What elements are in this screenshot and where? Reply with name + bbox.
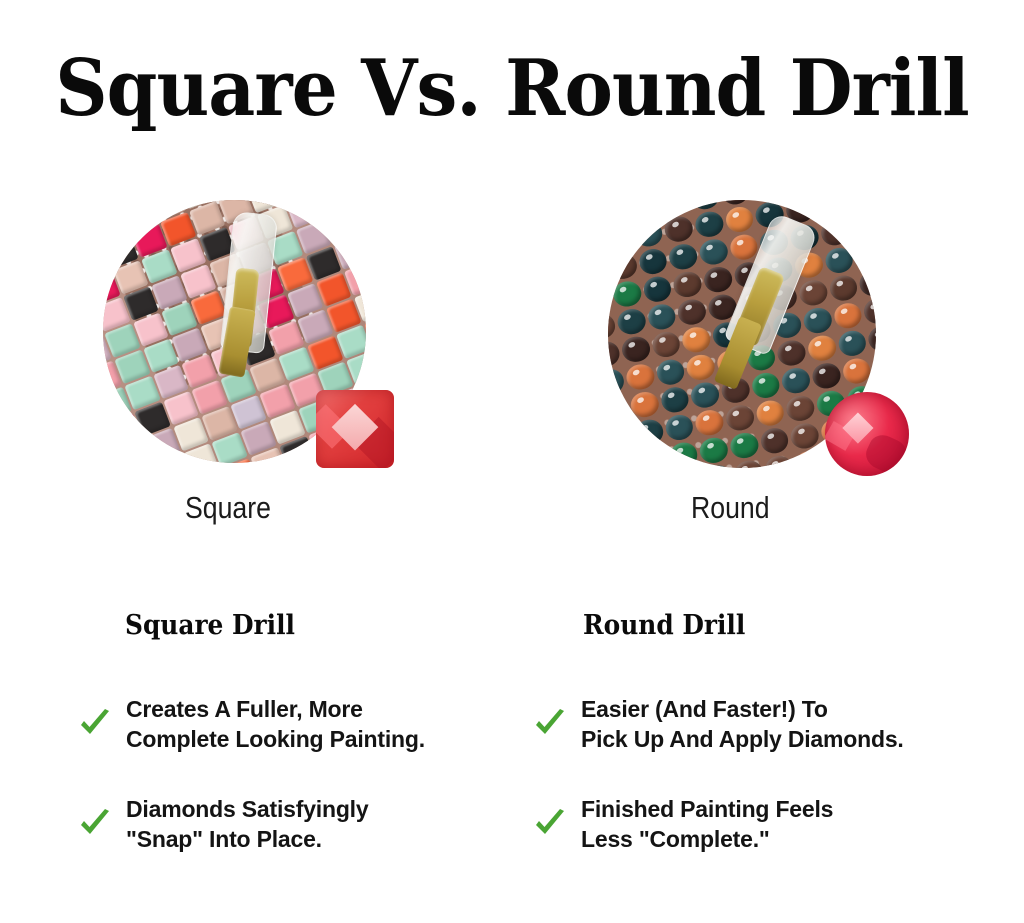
list-item-label: Easier (And Faster!) To Pick Up And Appl…: [581, 694, 904, 754]
round-gem-swatch: [825, 392, 909, 476]
page-title: Square Vs. Round Drill: [36, 46, 988, 132]
round-bead: [867, 324, 876, 353]
round-bead: [806, 333, 837, 362]
round-bead: [797, 278, 828, 307]
round-bead: [659, 385, 690, 414]
round-bead: [729, 431, 760, 460]
round-bead: [638, 445, 669, 468]
round-bead: [681, 325, 712, 354]
round-bead: [763, 454, 794, 468]
round-bead: [663, 214, 694, 243]
round-bead: [858, 269, 876, 298]
round-bead: [810, 361, 841, 390]
round-bead: [616, 307, 647, 336]
round-bead: [694, 408, 725, 437]
check-icon: [78, 807, 112, 841]
round-bead: [875, 200, 876, 210]
round-bead: [814, 200, 845, 219]
round-bead: [629, 390, 660, 419]
round-bead: [802, 306, 833, 335]
round-bead: [823, 246, 854, 275]
round-bead: [629, 200, 660, 220]
round-bead: [702, 265, 733, 294]
list-item: Creates A Fuller, More Complete Looking …: [78, 694, 425, 754]
round-bead: [759, 426, 790, 455]
round-bead: [608, 224, 634, 253]
round-photo-caption: Round: [691, 490, 770, 526]
round-bead: [608, 367, 626, 396]
round-bead: [651, 330, 682, 359]
round-bead: [612, 279, 643, 308]
round-bead: [819, 218, 850, 247]
list-item-label: Diamonds Satisfyingly "Snap" Into Place.: [126, 794, 368, 854]
round-bead: [724, 205, 755, 234]
round-bead: [608, 395, 630, 424]
round-bead: [637, 247, 668, 276]
gem-facet-right: [862, 431, 909, 476]
round-bead: [789, 421, 820, 450]
square-photo-caption: Square: [185, 490, 271, 526]
round-bead: [845, 200, 876, 215]
round-bead: [633, 418, 664, 447]
list-item-label: Finished Painting Feels Less "Complete.": [581, 794, 833, 854]
round-bead: [642, 274, 673, 303]
round-bead: [849, 213, 876, 242]
round-bead: [676, 297, 707, 326]
round-bead: [832, 301, 863, 330]
round-bead: [664, 413, 695, 442]
list-item-label: Creates A Fuller, More Complete Looking …: [126, 694, 425, 754]
round-bead: [828, 273, 859, 302]
round-bead: [608, 422, 634, 451]
round-bead: [625, 362, 656, 391]
square-column-heading: Square Drill: [125, 610, 295, 642]
round-bead: [668, 242, 699, 271]
round-bead: [608, 450, 639, 468]
round-bead: [733, 458, 764, 468]
round-bead: [646, 302, 677, 331]
round-bead: [853, 241, 876, 270]
round-bead: [655, 357, 686, 386]
round-bead: [672, 270, 703, 299]
round-bead: [793, 449, 824, 468]
round-bead: [776, 338, 807, 367]
round-bead: [608, 312, 617, 341]
list-item: Finished Painting Feels Less "Complete.": [533, 794, 833, 854]
round-bead: [685, 353, 716, 382]
round-bead: [836, 329, 867, 358]
round-bead: [698, 237, 729, 266]
round-bead: [750, 200, 781, 201]
round-bead: [620, 335, 651, 364]
round-bead: [785, 394, 816, 423]
round-bead: [689, 200, 720, 211]
round-bead: [703, 463, 734, 468]
round-bead: [862, 296, 876, 325]
round-bead: [724, 403, 755, 432]
round-bead: [608, 200, 630, 225]
round-bead: [719, 200, 750, 206]
round-bead: [608, 252, 638, 281]
round-bead: [608, 284, 612, 313]
round-bead: [754, 398, 785, 427]
square-gem-swatch: [316, 390, 394, 468]
list-item: Easier (And Faster!) To Pick Up And Appl…: [533, 694, 904, 754]
round-bead: [693, 210, 724, 239]
round-bead: [668, 440, 699, 468]
check-icon: [533, 807, 567, 841]
round-bead: [871, 352, 876, 381]
round-bead: [608, 339, 621, 368]
list-item: Diamonds Satisfyingly "Snap" Into Place.: [78, 794, 368, 854]
round-column-heading: Round Drill: [583, 610, 745, 642]
round-bead: [690, 380, 721, 409]
round-bead: [633, 219, 664, 248]
round-bead: [659, 200, 690, 216]
check-icon: [78, 707, 112, 741]
round-bead: [698, 436, 729, 465]
round-bead: [841, 356, 872, 385]
round-bead: [750, 371, 781, 400]
check-icon: [533, 707, 567, 741]
infographic-root: Square Vs. Round Drill Square Square Dri…: [0, 0, 1024, 923]
round-bead: [780, 366, 811, 395]
